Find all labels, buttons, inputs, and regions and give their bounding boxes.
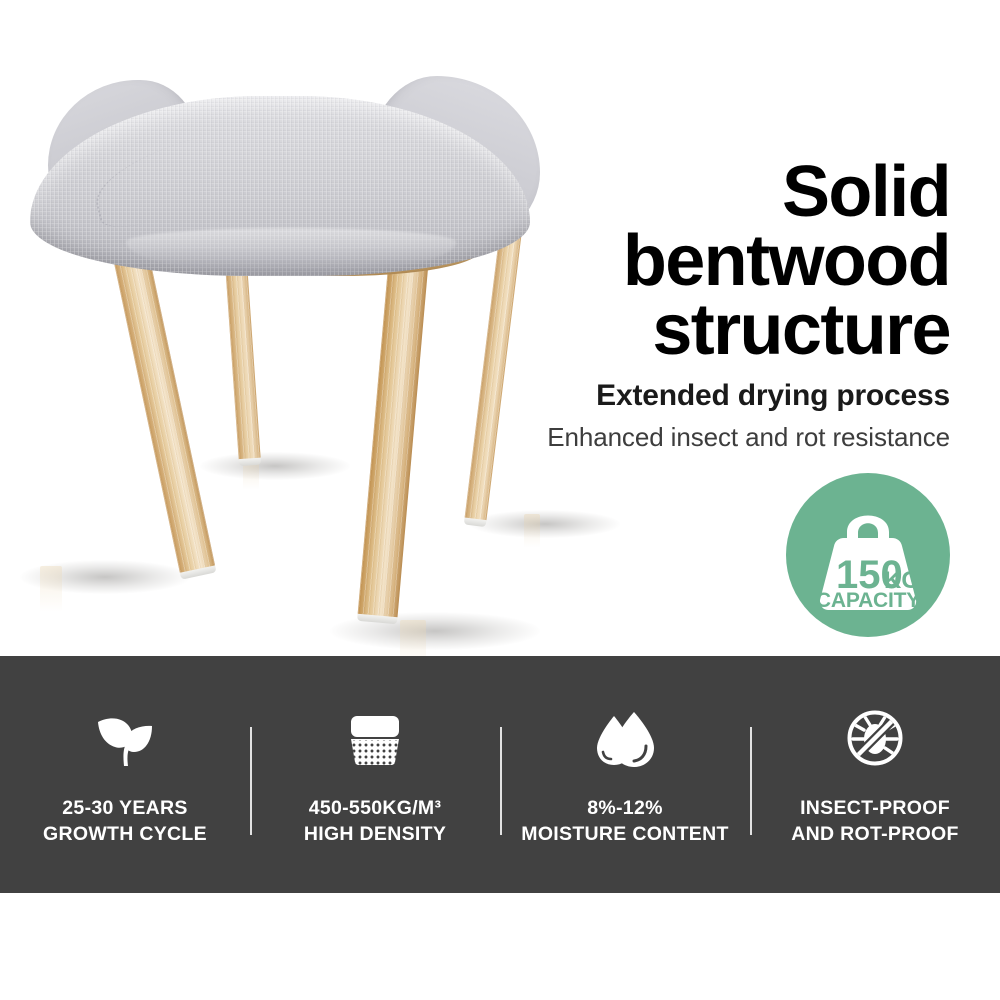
hero-copy: Solid bentwood structure Extended drying…: [310, 158, 950, 452]
feature-line-2: MOISTURE CONTENT: [521, 822, 728, 848]
feature-line-1: 450-550KG/M³: [304, 796, 446, 822]
no-insect-icon: [845, 706, 905, 768]
foot-reflection-far-right: [524, 514, 540, 548]
water-drops-icon: [594, 706, 656, 768]
feature-line-1: INSECT-PROOF: [791, 796, 958, 822]
density-block-icon: [345, 706, 405, 768]
hero-section: Solid bentwood structure Extended drying…: [0, 0, 1000, 656]
feature-growth-cycle: 25-30 YEARS GROWTH CYCLE: [0, 656, 250, 893]
foot-shadow-center: [200, 452, 350, 480]
feature-moisture-content: 8%-12% MOISTURE CONTENT: [500, 656, 750, 893]
feature-label: INSECT-PROOF AND ROT-PROOF: [791, 796, 958, 848]
headline-line-1: Solid: [310, 158, 950, 227]
weight-icon: 150 KG CAPACITY: [802, 492, 934, 618]
subheading: Extended drying process: [310, 379, 950, 413]
feature-line-2: GROWTH CYCLE: [43, 822, 207, 848]
foot-reflection-front: [400, 620, 426, 656]
feature-line-2: HIGH DENSITY: [304, 822, 446, 848]
leg-foot-cap: [239, 458, 261, 467]
subheading-secondary: Enhanced insect and rot resistance: [310, 423, 950, 452]
feature-line-1: 8%-12%: [521, 796, 728, 822]
leaf-icon: [94, 706, 156, 768]
feature-insect-rot-proof: INSECT-PROOF AND ROT-PROOF: [750, 656, 1000, 893]
foot-shadow-far-left: [20, 560, 190, 594]
feature-bar: 25-30 YEARS GROWTH CYCLE: [0, 656, 1000, 893]
badge-caption: CAPACITY: [816, 589, 920, 612]
product-feature-banner: Solid bentwood structure Extended drying…: [0, 0, 1000, 1000]
capacity-badge: 150 KG CAPACITY: [786, 473, 950, 637]
feature-high-density: 450-550KG/M³ HIGH DENSITY: [250, 656, 500, 893]
feature-label: 25-30 YEARS GROWTH CYCLE: [43, 796, 207, 848]
headline-line-2: bentwood: [310, 227, 950, 296]
feature-line-2: AND ROT-PROOF: [791, 822, 958, 848]
feature-line-1: 25-30 YEARS: [43, 796, 207, 822]
feature-label: 8%-12% MOISTURE CONTENT: [521, 796, 728, 848]
headline-line-3: structure: [310, 296, 950, 365]
feature-label: 450-550KG/M³ HIGH DENSITY: [304, 796, 446, 848]
page-title: Solid bentwood structure: [310, 158, 950, 365]
foot-shadow-far-right: [470, 510, 620, 538]
foot-reflection-far-left: [40, 566, 62, 612]
leg-foot-cap: [464, 517, 487, 527]
